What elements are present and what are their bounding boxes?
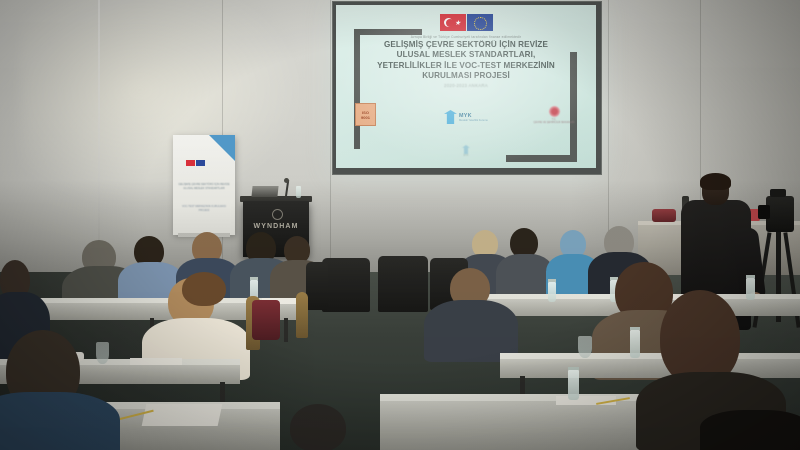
water-bottle [746,278,755,300]
myk-mark-icon [462,145,470,154]
water-bottle [568,370,579,400]
banner-subline: VOC-TEST MERKEZİNİN KURULMASI PROJESİ [178,205,230,213]
myk-logo-subtitle: Mesleki Yeterlilik Kurumu [459,119,488,122]
table-leg [284,318,288,342]
camera-lens-icon [758,205,770,219]
european-union-flag-icon [196,160,205,166]
turkey-flag-icon [186,160,195,166]
turkey-flag-icon: ★ [440,14,466,31]
presenter-laptop [251,186,278,197]
slide-eyebrow: Avrupa Birliği ve Türkiye Cumhuriyeti ta… [336,35,596,39]
table-papers [142,404,223,426]
ministry-logo-line2: ÇEVRE VE ŞEHİRCİLİK BAKANLIĞI [528,121,580,124]
banquet-chair [296,292,308,338]
european-union-flag-icon [467,14,493,31]
podium-crest-icon [272,209,283,220]
empty-chair [322,258,370,312]
drinking-glass [578,336,592,358]
slide-bracket-left [354,29,360,149]
standing-presenter-hair [700,173,731,190]
empty-chair [378,256,428,312]
rollup-banner: GELİŞMİŞ ÇEVRE SEKTÖRÜ İÇİN REVİZE ULUSA… [173,135,235,235]
podium-water-bottle [296,186,301,198]
podium-brand-label: WYNDHAM [243,223,309,230]
myk-logo-icon [444,110,457,124]
slide-date-line: 2020-2023 ANKARA [336,83,596,88]
banner-flags [186,160,205,166]
ministry-logo: T.C. ÇEVRE VE ŞEHİRCİLİK BAKANLIĞI [528,106,580,124]
red-bag [652,209,676,222]
audience-table [500,356,800,378]
banner-headline: GELİŞMİŞ ÇEVRE SEKTÖRÜ İÇİN REVİZE ULUSA… [178,183,230,191]
camera-hood [770,189,786,197]
empty-chair [306,262,328,310]
foreground-table [380,398,680,450]
conference-room-photo: ★ Avrupa Birliği ve Türkiye Cumhuriyeti … [0,0,800,450]
video-camera [766,196,794,232]
myk-logo: MYK Mesleki Yeterlilik Kurumu [444,108,500,126]
water-bottle [630,330,640,358]
audience-table-top [500,353,800,359]
iso-logo: ISO 9001 [355,103,376,126]
slide-bracket-top [354,29,422,35]
banquet-chair-seat [252,300,280,340]
slide-title: GELİŞMİŞ ÇEVRE SEKTÖRÜ İÇİN REVİZE ULUSA… [368,40,564,82]
iso-logo-line2: 9001 [361,115,370,120]
table-papers [130,358,182,365]
banner-corner-graphic [209,135,235,161]
slide-bracket-bottom [506,155,577,162]
water-bottle [548,282,556,302]
ministry-emblem-icon [549,106,560,117]
drinking-glass [96,342,109,364]
microphone-icon [284,178,289,183]
foreground-table-top [380,394,680,401]
